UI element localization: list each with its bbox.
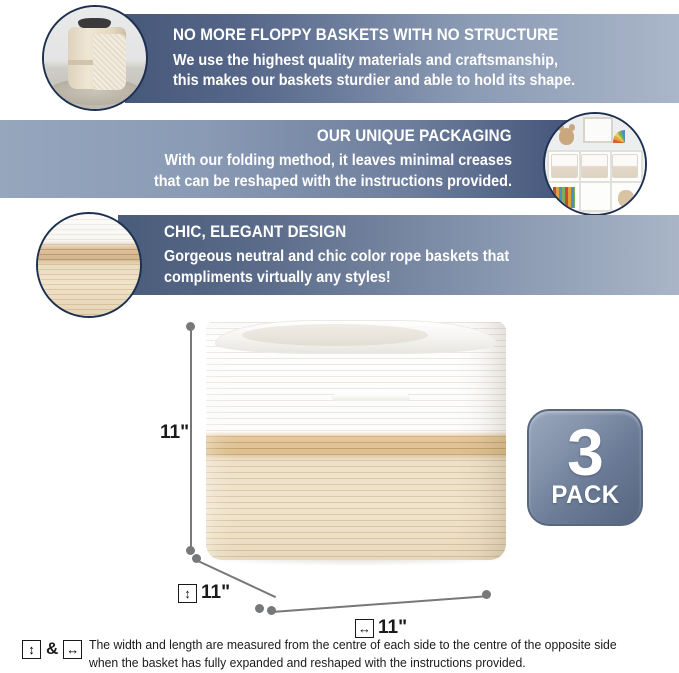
footnote-text-line2: when the basket has fully expanded and r… [89, 655, 617, 673]
three-pack-badge: 3 PACK [527, 409, 643, 526]
teddy-bear-shape [559, 128, 574, 145]
feature-banner-structure: NO MORE FLOPPY BASKETS WITH NO STRUCTURE… [125, 14, 679, 103]
doll-shape [618, 190, 634, 207]
pack-label: PACK [551, 481, 619, 510]
width-dimension-value: 11" [378, 617, 407, 639]
height-guide-dot-top [186, 322, 195, 331]
rope-texture-shape [38, 214, 140, 316]
depth-dimension-label: ↕ 11" [178, 582, 230, 604]
feature-photo-structure [42, 5, 148, 111]
feature-body-packaging: With our folding method, it leaves minim… [154, 151, 512, 192]
basket-body-shape [206, 322, 506, 560]
vertical-arrow-icon: ↕ [178, 584, 197, 603]
lid-shape [78, 18, 112, 28]
feature-banner-design: CHIC, ELEGANT DESIGN Gorgeous neutral an… [118, 215, 679, 295]
towel-shape [93, 34, 126, 90]
storage-bin-2 [581, 154, 608, 177]
feature-photo-design [36, 212, 142, 318]
height-dimension-value: 11" [160, 422, 189, 444]
storage-bin-1 [551, 154, 578, 177]
picture-frame-shape [583, 117, 613, 143]
feature-title-structure: NO MORE FLOPPY BASKETS WITH NO STRUCTURE [173, 25, 558, 46]
horizontal-arrow-icon: ↔ [63, 640, 82, 659]
feature-body-design-line2: compliments virtually any styles! [164, 268, 509, 289]
books-shape [553, 187, 575, 208]
depth-guide-dot-bottom [255, 604, 264, 613]
feature-body-design: Gorgeous neutral and chic color rope bas… [164, 247, 509, 288]
width-guide-dot-right [482, 590, 491, 599]
footnote-text: The width and length are measured from t… [89, 637, 617, 673]
width-guide-dot-left [267, 606, 276, 615]
width-dimension-label: ↔ 11" [355, 617, 407, 639]
pack-count: 3 [567, 425, 603, 479]
feature-title-packaging: OUR UNIQUE PACKAGING [317, 126, 512, 147]
shelf-divider-horizontal [549, 181, 641, 183]
height-guide-line [190, 327, 192, 551]
vertical-arrow-icon: ↕ [22, 640, 41, 659]
basket-interior-shape [242, 324, 428, 346]
feature-body-design-line1: Gorgeous neutral and chic color rope bas… [164, 247, 509, 268]
measurement-footnote: ↕ & ↔ The width and length are measured … [22, 637, 670, 673]
feature-body-structure-line1: We use the highest quality materials and… [173, 51, 575, 72]
horizontal-arrow-icon: ↔ [355, 619, 374, 638]
footnote-icon-group: ↕ & ↔ [22, 637, 82, 659]
ampersand-label: & [46, 639, 58, 659]
shelf-unit-shape [547, 150, 643, 212]
feature-body-packaging-line1: With our folding method, it leaves minim… [154, 151, 512, 172]
depth-guide-dot-top [192, 554, 201, 563]
footnote-text-line1: The width and length are measured from t… [89, 637, 617, 655]
basket-handle-shape [332, 394, 410, 401]
product-image-basket [206, 322, 506, 560]
height-dimension-label: 11" [160, 422, 189, 444]
feature-body-structure-line2: this makes our baskets sturdier and able… [173, 71, 575, 92]
feature-banner-packaging: OUR UNIQUE PACKAGING With our folding me… [0, 120, 570, 198]
width-guide-line [272, 595, 489, 612]
storage-bin-3 [612, 154, 639, 177]
feature-body-packaging-line2: that can be reshaped with the instructio… [154, 172, 512, 193]
feature-title-design: CHIC, ELEGANT DESIGN [164, 222, 346, 243]
feature-body-structure: We use the highest quality materials and… [173, 51, 575, 92]
infographic-canvas: NO MORE FLOPPY BASKETS WITH NO STRUCTURE… [0, 0, 679, 673]
depth-dimension-value: 11" [201, 582, 230, 604]
feature-photo-packaging [543, 112, 647, 216]
